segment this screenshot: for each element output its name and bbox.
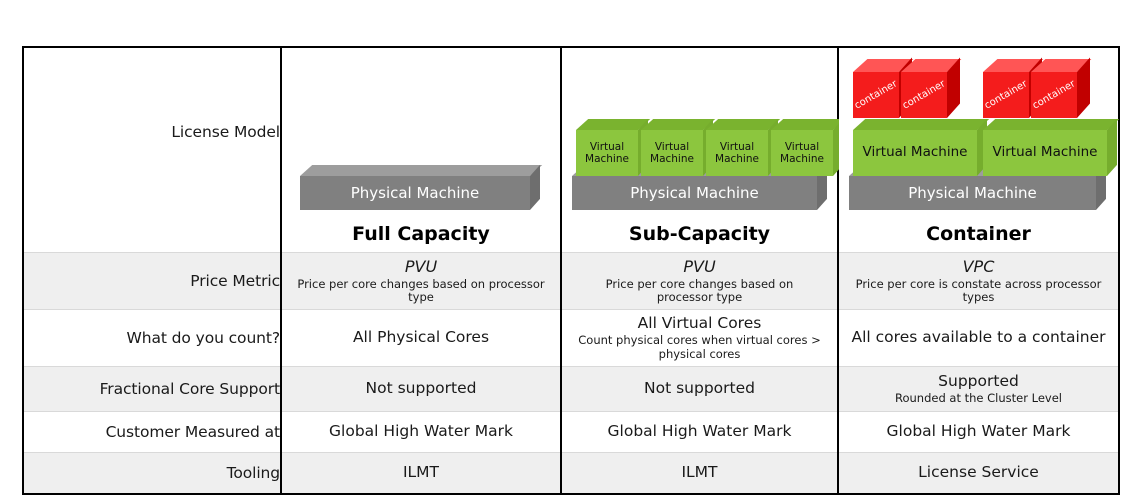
cell-sub-text: Price per core changes based on processo… <box>289 278 553 306</box>
row-label-fractional-core-support: Fractional Core Support <box>23 366 281 411</box>
table-row-customer-measured-at: Customer Measured at Global High Water M… <box>23 411 1119 452</box>
diagram-sub-capacity-canvas: Physical Machine Virtual Machine Virtu <box>562 48 837 216</box>
cell-price-metric-full-capacity: PVU Price per core changes based on proc… <box>281 253 561 310</box>
column-title-full-capacity: Full Capacity <box>281 216 561 253</box>
virtual-machine-label: Virtual Machine <box>853 130 977 176</box>
table-row-price-metric: Price Metric PVU Price per core changes … <box>23 253 1119 310</box>
cell-main-text: Not supported <box>569 379 830 398</box>
cell-count-sub-capacity: All Virtual Cores Count physical cores w… <box>561 310 838 367</box>
cell-tooling-full-capacity: ILMT <box>281 452 561 494</box>
cell-tooling-sub-capacity: ILMT <box>561 452 838 494</box>
stack-full-capacity: Physical Machine <box>282 50 560 210</box>
container-cube-label: container <box>853 78 899 111</box>
row-label-tooling: Tooling <box>23 452 281 494</box>
cell-sub-text: Price per core changes based on processo… <box>596 278 803 306</box>
container-cube-front-face: container <box>1031 72 1077 118</box>
cell-main-text: ILMT <box>569 463 830 482</box>
cell-main-text: Supported <box>846 372 1111 391</box>
diagram-full-capacity-canvas: Physical Machine <box>282 48 560 216</box>
cell-tooling-container: License Service <box>838 452 1119 494</box>
cell-main-text: All cores available to a container <box>846 328 1111 347</box>
cell-main-text: Global High Water Mark <box>289 422 553 441</box>
cell-measured-container: Global High Water Mark <box>838 411 1119 452</box>
virtual-machine-label: Virtual Machine <box>706 130 768 176</box>
virtual-machine-block: Virtual Machine <box>706 130 768 176</box>
virtual-machine-block: Virtual Machine <box>983 130 1107 176</box>
cell-main-text: Global High Water Mark <box>569 422 830 441</box>
container-cube-front-face: container <box>901 72 947 118</box>
cell-fractional-container: Supported Rounded at the Cluster Level <box>838 366 1119 411</box>
table-row-tooling: Tooling ILMT ILMT License Service <box>23 452 1119 494</box>
cell-price-metric-sub-capacity: PVU Price per core changes based on proc… <box>561 253 838 310</box>
physical-machine-label-full: Physical Machine <box>300 176 530 210</box>
virtual-machine-label: Virtual Machine <box>983 130 1107 176</box>
row-label-price-metric: Price Metric <box>23 253 281 310</box>
physical-machine-block-sub: Physical Machine <box>572 176 817 210</box>
cell-main-text: ILMT <box>289 463 553 482</box>
stack-container: Physical Machine Virtual Machine Virtu <box>839 50 1118 210</box>
diagram-container: Physical Machine Virtual Machine Virtu <box>838 47 1119 216</box>
cell-count-full-capacity: All Physical Cores <box>281 310 561 367</box>
container-cube-label: container <box>983 78 1029 111</box>
cell-main-text: All Physical Cores <box>289 328 553 347</box>
virtual-machine-label: Virtual Machine <box>576 130 638 176</box>
container-cube: container <box>853 72 899 118</box>
cell-count-container: All cores available to a container <box>838 310 1119 367</box>
cell-fractional-sub-capacity: Not supported <box>561 366 838 411</box>
column-title-spacer <box>23 216 281 253</box>
column-title-sub-capacity: Sub-Capacity <box>561 216 838 253</box>
table-row-column-titles: Full Capacity Sub-Capacity Container <box>23 216 1119 253</box>
row-label-license-model-text: License Model <box>171 123 280 141</box>
virtual-machine-block: Virtual Machine <box>853 130 977 176</box>
cell-main-text: All Virtual Cores <box>569 314 830 333</box>
stack-sub-capacity: Physical Machine Virtual Machine Virtu <box>562 50 837 210</box>
cell-price-metric-container: VPC Price per core is constate across pr… <box>838 253 1119 310</box>
cell-sub-text: Count physical cores when virtual cores … <box>569 334 830 362</box>
virtual-machine-label: Virtual Machine <box>641 130 703 176</box>
physical-machine-block-container: Physical Machine <box>849 176 1096 210</box>
diagram-full-capacity: Physical Machine <box>281 47 561 216</box>
cell-main-text: Not supported <box>289 379 553 398</box>
container-cube: container <box>901 72 947 118</box>
cell-measured-sub-capacity: Global High Water Mark <box>561 411 838 452</box>
row-label-what-do-you-count: What do you count? <box>23 310 281 367</box>
cell-sub-text: Rounded at the Cluster Level <box>846 392 1111 406</box>
diagram-sub-capacity: Physical Machine Virtual Machine Virtu <box>561 47 838 216</box>
virtual-machine-top-face <box>983 119 1119 130</box>
physical-machine-block-full: Physical Machine <box>300 176 530 210</box>
cell-fractional-full-capacity: Not supported <box>281 366 561 411</box>
row-label-license-model: License Model <box>23 47 281 216</box>
cell-sub-text: Price per core is constate across proces… <box>846 278 1111 306</box>
cell-main-text: PVU <box>289 257 553 277</box>
physical-machine-label-sub: Physical Machine <box>572 176 817 210</box>
row-label-customer-measured-at: Customer Measured at <box>23 411 281 452</box>
container-cube-front-face: container <box>983 72 1029 118</box>
table-row-fractional-core-support: Fractional Core Support Not supported No… <box>23 366 1119 411</box>
container-cube: container <box>983 72 1029 118</box>
table-row-license-model: License Model Physical Machine <box>23 47 1119 216</box>
cell-measured-full-capacity: Global High Water Mark <box>281 411 561 452</box>
container-cube-label: container <box>1031 78 1077 111</box>
cell-main-text: Global High Water Mark <box>846 422 1111 441</box>
container-cube-label: container <box>901 78 947 111</box>
table-row-what-do-you-count: What do you count? All Physical Cores Al… <box>23 310 1119 367</box>
diagram-container-canvas: Physical Machine Virtual Machine Virtu <box>839 48 1118 216</box>
virtual-machine-top-face <box>853 119 989 130</box>
virtual-machine-block: Virtual Machine <box>576 130 638 176</box>
container-cube: container <box>1031 72 1077 118</box>
virtual-machine-block: Virtual Machine <box>641 130 703 176</box>
cell-main-text: PVU <box>596 257 803 277</box>
physical-machine-label-container: Physical Machine <box>849 176 1096 210</box>
comparison-table: License Model Physical Machine <box>22 46 1120 495</box>
cell-main-text: License Service <box>846 463 1111 482</box>
physical-machine-top-face <box>300 165 542 176</box>
container-cube-front-face: container <box>853 72 899 118</box>
cell-main-text: VPC <box>846 257 1111 277</box>
license-model-comparison-figure: License Model Physical Machine <box>0 0 1138 495</box>
virtual-machine-block: Virtual Machine <box>771 130 833 176</box>
column-title-container: Container <box>838 216 1119 253</box>
virtual-machine-label: Virtual Machine <box>771 130 833 176</box>
virtual-machine-side-face <box>1107 119 1117 176</box>
